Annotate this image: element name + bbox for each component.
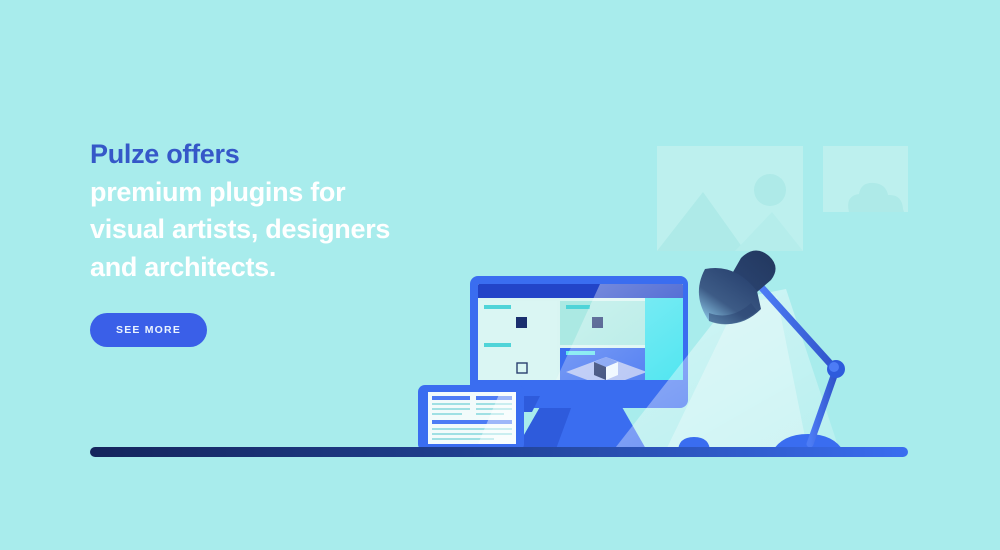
laptop	[418, 385, 540, 451]
lamp-joint-highlight	[829, 362, 839, 372]
headline-line-3: and architects.	[90, 252, 276, 282]
hero-banner: Pulze offers premium plugins for visual …	[0, 0, 1000, 550]
hero-copy: Pulze offers premium plugins for visual …	[90, 136, 520, 347]
doc-text-line	[432, 403, 470, 405]
doc-heading-bar	[432, 396, 470, 400]
poster-large	[657, 146, 803, 251]
headline-line-1: premium plugins for	[90, 177, 345, 207]
poster-sun-icon	[754, 174, 786, 206]
see-more-button[interactable]: SEE MORE	[90, 313, 207, 347]
page-title: Pulze offers premium plugins for visual …	[90, 136, 520, 286]
doc-text-line	[432, 413, 462, 415]
headline-line-2: visual artists, designers	[90, 214, 390, 244]
poster-small	[823, 146, 908, 212]
headline-accent-line: Pulze offers	[90, 139, 239, 169]
doc-text-line	[432, 408, 470, 410]
desk-surface	[90, 447, 908, 457]
panel-label-bar	[566, 305, 590, 309]
